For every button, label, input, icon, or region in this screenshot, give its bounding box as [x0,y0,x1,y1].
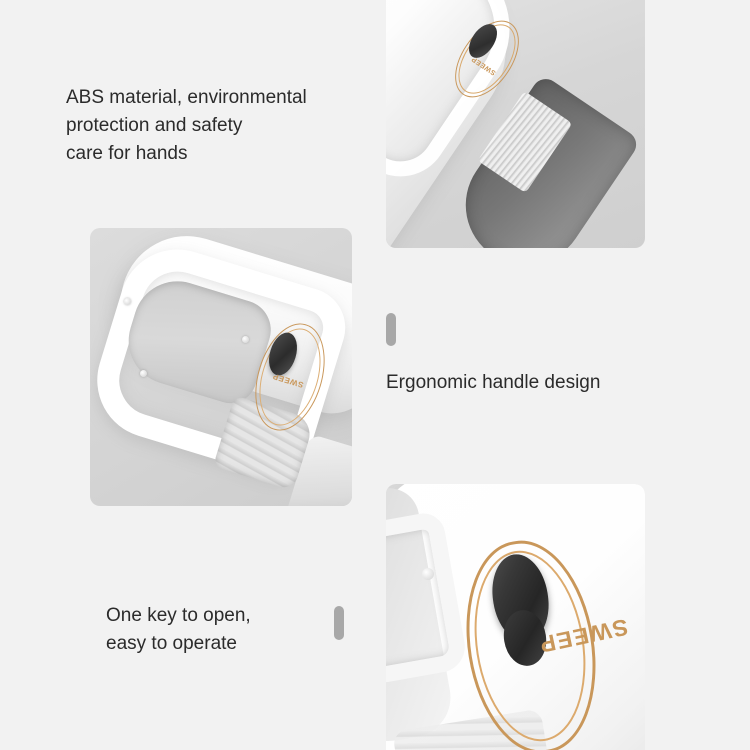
accent-bar-ergonomic-handle [386,313,396,346]
photo-vacuum-full-view: SWEEP [386,0,645,248]
screw-detail-icon [140,370,147,377]
feature-caption-one-key-open: One key to open, easy to operate [106,602,356,658]
screw-detail-icon [124,298,131,305]
product-feature-infographic: SWEEP SWEEP SWEEP ABS material, environm… [0,0,750,750]
photo-handle-close-up: SWEEP [90,228,352,506]
screw-detail-icon [242,336,249,343]
feature-caption-abs-material: ABS material, environmental protection a… [66,84,376,168]
photo-switch-macro: SWEEP [386,484,645,750]
feature-caption-ergonomic-handle: Ergonomic handle design [386,369,666,397]
screw-detail-icon [422,568,434,580]
